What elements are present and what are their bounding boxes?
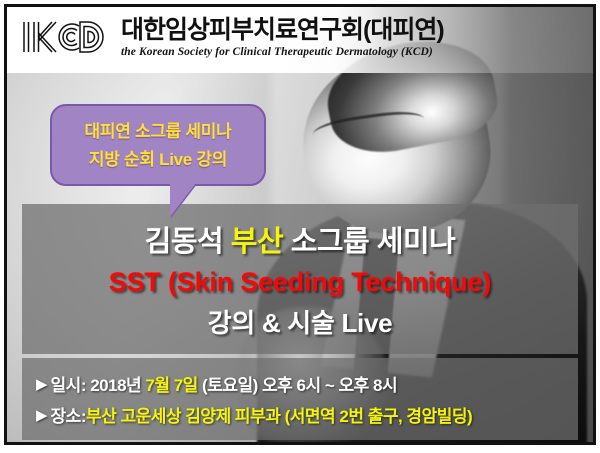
title-city-highlight: 부산 — [231, 226, 283, 258]
speech-bubble-body: 대피연 소그룹 세미나 지방 순회 Live 강의 — [50, 104, 266, 186]
bullet-triangle-icon: ▶ — [36, 375, 48, 393]
bubble-line-1: 대피연 소그룹 세미나 — [62, 118, 254, 146]
title-line-2: SST (Skin Seeding Technique) — [109, 267, 491, 298]
info-row-date: ▶ 일시: 2018년 7월 7일 (토요일) 오후 6시 ~ 오후 8시 — [36, 371, 578, 396]
title-line-1: 김동석 부산 소그룹 세미나 — [145, 218, 456, 260]
org-name-english: the Korean Society for Clinical Therapeu… — [121, 47, 444, 59]
info-place-value: 부산 고운세상 김양제 피부과 (서면역 2번 출구, 경암빌딩) — [86, 402, 472, 427]
bullet-triangle-icon: ▶ — [36, 406, 48, 424]
title-panel: 김동석 부산 소그룹 세미나 SST (Skin Seeding Techniq… — [22, 204, 578, 354]
title-line-1-part-2: 소그룹 세미나 — [283, 226, 455, 258]
bubble-line-2: 지방 순회 Live 강의 — [62, 146, 254, 174]
organization-name-block: 대한임상피부치료연구회(대피연) the Korean Society for … — [121, 18, 444, 59]
seminar-poster: 대한임상피부치료연구회(대피연) the Korean Society for … — [0, 0, 600, 453]
info-row-place: ▶ 장소: 부산 고운세상 김양제 피부과 (서면역 2번 출구, 경암빌딩) — [36, 402, 578, 427]
info-place-label: 장소: — [51, 402, 86, 427]
info-date-label: 일시: — [51, 376, 91, 395]
title-line-1-part-1: 김동석 — [145, 226, 231, 258]
speech-bubble: 대피연 소그룹 세미나 지방 순회 Live 강의 — [50, 104, 266, 186]
info-date-text: 일시: 2018년 7월 7일 (토요일) 오후 6시 ~ 오후 8시 — [51, 371, 398, 396]
title-line-3: 강의 & 시술 Live — [208, 303, 393, 340]
speech-bubble-tail — [170, 183, 208, 217]
info-date-highlight: 7월 7일 — [145, 376, 197, 395]
kcd-logo-icon — [21, 18, 109, 58]
info-date-rest: (토요일) 오후 6시 ~ 오후 8시 — [198, 376, 397, 395]
info-date-year: 2018년 — [90, 376, 145, 395]
org-name-korean: 대한임상피부치료연구회(대피연) — [121, 18, 444, 43]
info-panel: ▶ 일시: 2018년 7월 7일 (토요일) 오후 6시 ~ 오후 8시 ▶ … — [22, 358, 578, 440]
poster-header: 대한임상피부치료연구회(대피연) the Korean Society for … — [7, 7, 593, 69]
